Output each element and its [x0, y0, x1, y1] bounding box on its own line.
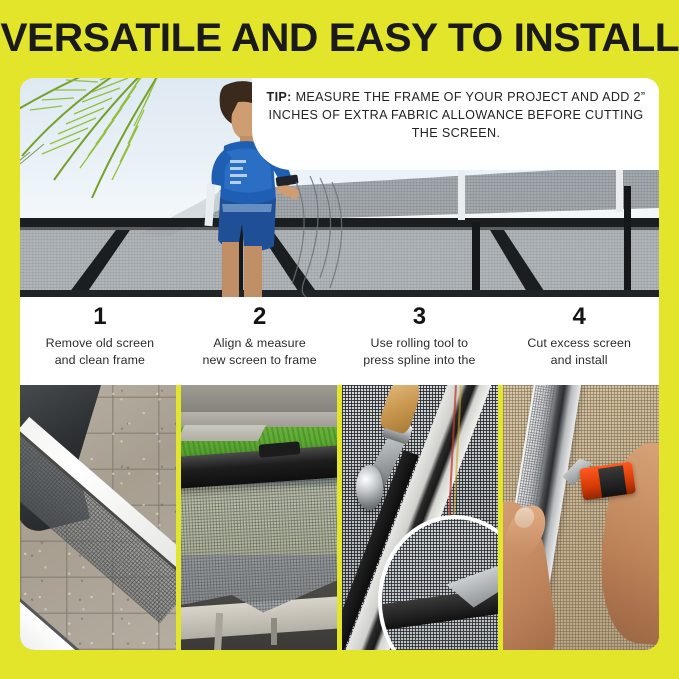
step-item-4: 4 Cut excess screen and install [499, 297, 659, 385]
step-number-4: 4 [572, 304, 585, 329]
table-leg-right [271, 618, 277, 645]
step-item-1: 1 Remove old screen and clean frame [20, 297, 180, 385]
content-card: TIP: MEASURE THE FRAME OF YOUR PROJECT A… [20, 78, 659, 650]
step-label-4: Cut excess screen and install [527, 335, 631, 368]
step-number-2: 2 [253, 304, 266, 329]
page-title: VERSATILE AND EASY TO INSTALL [0, 18, 679, 58]
hero-photo: TIP: MEASURE THE FRAME OF YOUR PROJECT A… [20, 78, 659, 297]
step-photo-row [20, 385, 659, 650]
roller-wheel [356, 465, 383, 510]
header-banner: VERSATILE AND EASY TO INSTALL [0, 0, 679, 76]
infographic-poster: VERSATILE AND EASY TO INSTALL [0, 0, 679, 679]
step-label-1: Remove old screen and clean frame [46, 335, 154, 368]
step-photo-4 [503, 385, 659, 650]
step-photo-1 [20, 385, 176, 650]
steps-strip: 1 Remove old screen and clean frame 2 Al… [20, 297, 659, 385]
step-photo-2 [181, 385, 337, 650]
hero-section: TIP: MEASURE THE FRAME OF YOUR PROJECT A… [20, 78, 659, 297]
step-label-3: Use rolling tool to press spline into th… [363, 335, 475, 368]
screen-enclosure-illustration [20, 156, 659, 297]
tip-label: TIP: [267, 90, 292, 104]
white-screen-frame [20, 385, 176, 650]
tip-body: MEASURE THE FRAME OF YOUR PROJECT AND AD… [269, 90, 646, 140]
utility-knife-grip [598, 466, 627, 498]
step-number-1: 1 [93, 304, 106, 329]
step-label-2: Align & measure new screen to frame [203, 335, 317, 368]
step-photo-3 [342, 385, 498, 650]
step-item-2: 2 Align & measure new screen to frame [180, 297, 340, 385]
step-number-3: 3 [413, 304, 426, 329]
step-item-3: 3 Use rolling tool to press spline into … [340, 297, 500, 385]
tip-text: TIP: MEASURE THE FRAME OF YOUR PROJECT A… [260, 89, 652, 143]
sidewalk-path [181, 425, 266, 441]
